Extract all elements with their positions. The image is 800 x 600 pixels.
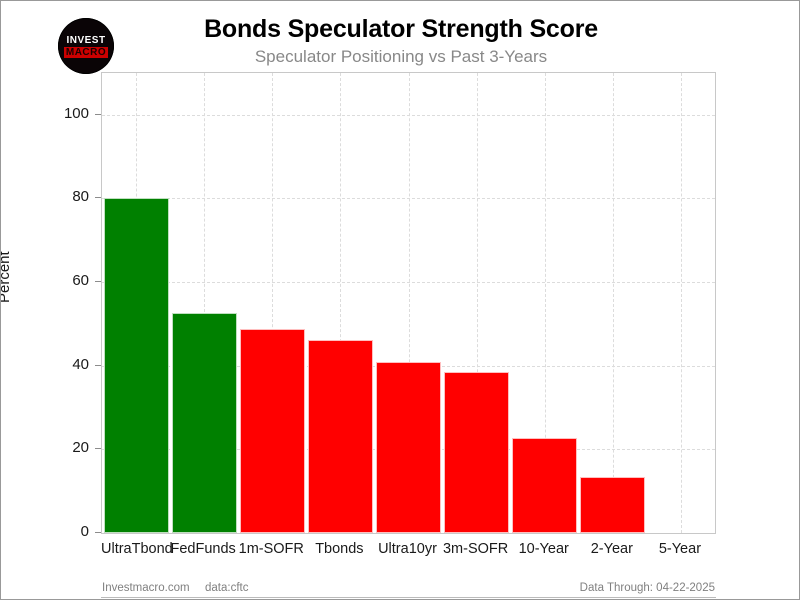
bar-ultratbond	[104, 198, 169, 533]
bar-1m-sofr	[240, 329, 305, 533]
x-tick-label: 3m-SOFR	[442, 541, 510, 557]
x-tick-label: 5-Year	[646, 541, 714, 557]
bar-ultra10yr	[376, 362, 441, 533]
y-tick-label: 100	[29, 105, 89, 122]
chart-canvas: INVEST MACRO Bonds Speculator Strength S…	[0, 0, 800, 600]
footer-site: Investmacro.com	[102, 582, 190, 594]
plot-area	[101, 72, 716, 534]
x-tick-label: FedFunds	[169, 541, 237, 557]
x-tick-label: UltraTbond	[101, 541, 169, 557]
x-tick-label: 2-Year	[578, 541, 646, 557]
gridline-vertical	[613, 73, 614, 533]
y-axis-title: Percent	[0, 251, 13, 303]
y-tick-label: 0	[29, 523, 89, 540]
chart-subtitle: Speculator Positioning vs Past 3-Years	[1, 47, 800, 67]
footer-source: data:cftc	[205, 582, 248, 594]
y-tick-label: 80	[29, 188, 89, 205]
bar-10-year	[512, 438, 577, 533]
chart-title: Bonds Speculator Strength Score	[1, 15, 800, 44]
bar-3m-sofr	[444, 372, 509, 533]
bar-2-year	[580, 477, 645, 533]
bar-tbonds	[308, 340, 373, 533]
y-tick-label: 40	[29, 356, 89, 373]
x-tick-label: Tbonds	[305, 541, 373, 557]
bar-fedfunds	[172, 313, 237, 533]
y-tick-label: 60	[29, 272, 89, 289]
footer-data-through: Data Through: 04-22-2025	[580, 582, 715, 594]
gridline-vertical	[681, 73, 682, 533]
x-tick-label: 1m-SOFR	[237, 541, 305, 557]
y-tick-label: 20	[29, 439, 89, 456]
x-tick-label: 10-Year	[510, 541, 578, 557]
x-tick-label: Ultra10yr	[373, 541, 441, 557]
footer-divider	[101, 597, 716, 598]
